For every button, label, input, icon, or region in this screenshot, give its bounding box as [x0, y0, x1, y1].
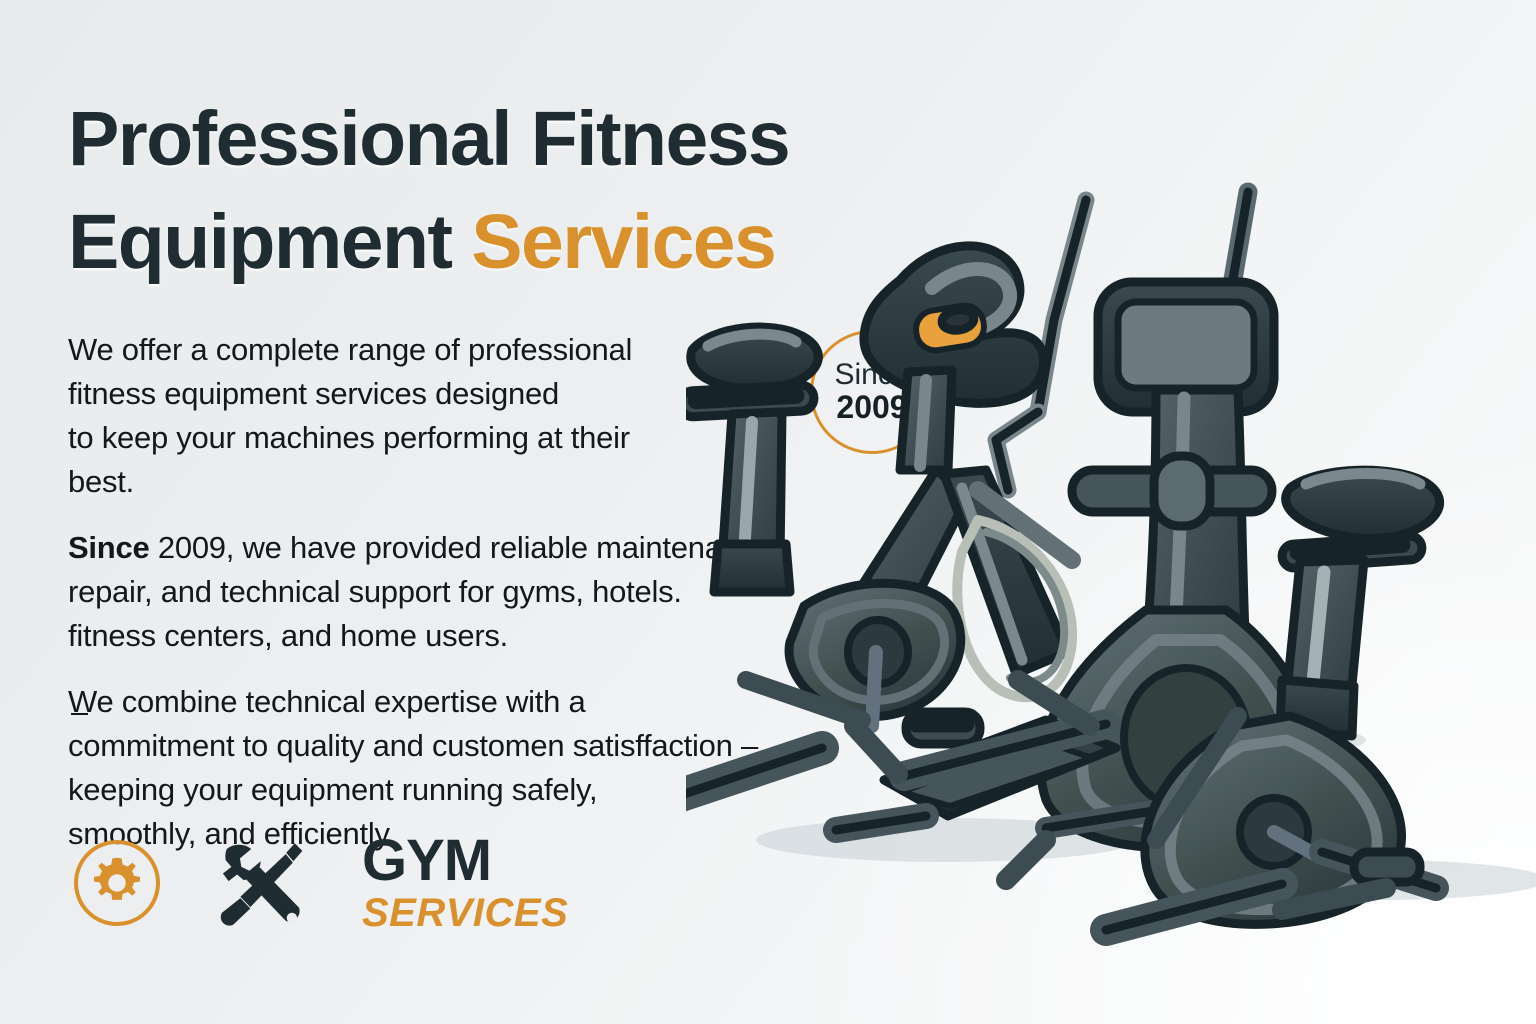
page-title-line-1: Professional Fitness [68, 96, 789, 182]
gear-badge [74, 840, 160, 926]
paragraph-2-line-1-rest: 2009, we have provided reliable maintena… [149, 530, 779, 565]
wordmark-primary: GYM [362, 832, 568, 890]
wordmark-secondary: SERVICES [362, 893, 568, 933]
wrench-screwdriver-icon [204, 835, 308, 931]
gear-icon [88, 854, 146, 912]
brand-logo-lockup: GYM SERVICES [74, 832, 568, 933]
wordmark: GYM SERVICES [362, 832, 568, 933]
bike-console [913, 303, 986, 353]
page-title-line-2-dark: Equipment [68, 199, 471, 285]
gym-equipment-illustration [686, 140, 1536, 970]
paragraph-2-lead-bold: Since [68, 530, 149, 565]
